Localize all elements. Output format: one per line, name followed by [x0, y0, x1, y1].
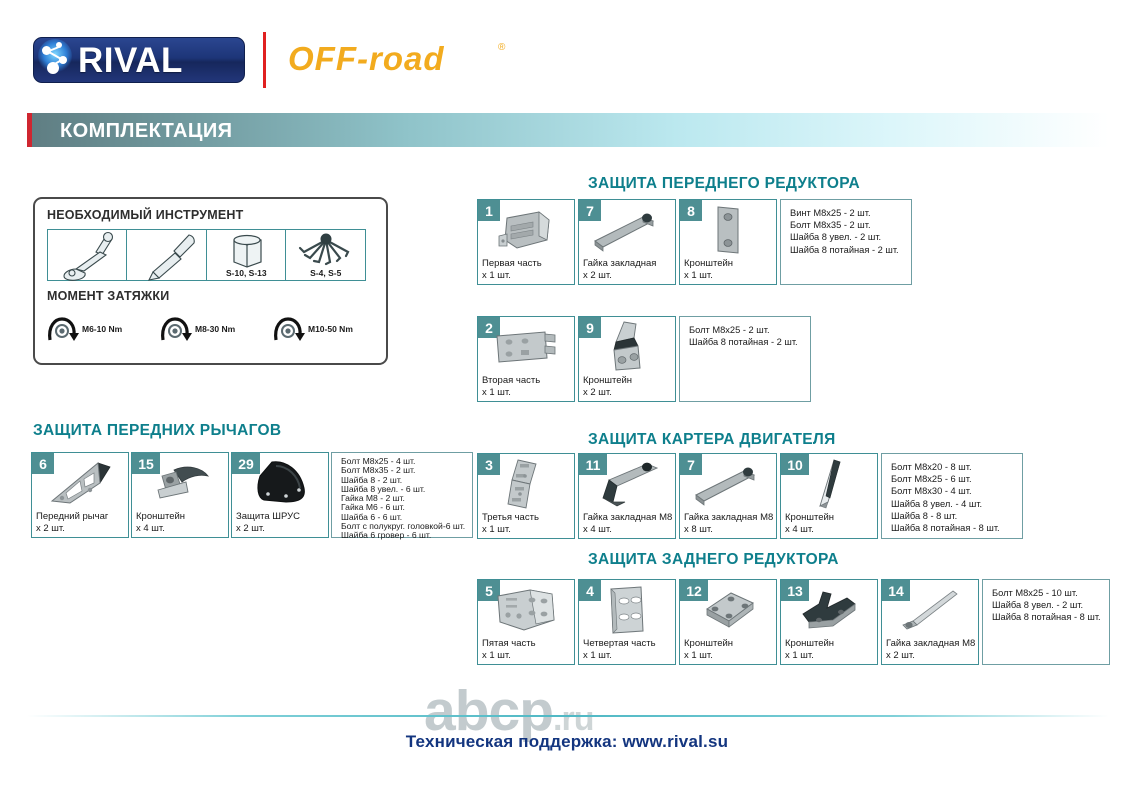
part-art-bracket-plate: [680, 584, 776, 638]
required-tools-panel: НЕОБХОДИМЫЙ ИНСТРУМЕНТ: [33, 197, 388, 365]
torque-title: МОМЕНТ ЗАТЯЖКИ: [47, 289, 169, 303]
support-text: Техническая поддержка: www.rival.su: [0, 732, 1134, 752]
part-name: Гайка закладная: [583, 258, 656, 269]
part-box-1: 1 Первая часть х 1 шт.: [477, 199, 575, 285]
hardware-line: Шайба 8 - 8 шт.: [891, 510, 1022, 522]
part-name: Кронштейн: [583, 375, 632, 386]
part-art-plate-2: [478, 321, 574, 375]
part-qty: х 1 шт.: [684, 270, 713, 281]
hardware-line: Шайба 6 гровер - 6 шт.: [341, 531, 472, 540]
part-caption: Гайка закладная M8 х 4 шт.: [583, 512, 672, 535]
hardware-line: Болт M8x25 - 6 шт.: [891, 473, 1022, 485]
torque-label-m10: M10-50 Nm: [308, 324, 353, 334]
part-caption: Передний рычаг х 2 шт.: [36, 511, 108, 534]
hardware-line: Болт M8x25 - 10 шт.: [992, 587, 1109, 599]
molecule-icon: [34, 37, 78, 83]
part-name: Третья часть: [482, 512, 539, 523]
part-box-15: 15 Кронштейн х 4 шт.: [131, 452, 229, 538]
hardware-line: Шайба 8 потайная - 2 шт.: [689, 336, 810, 348]
part-box-9: 9 Кронштейн х 2 шт.: [578, 316, 676, 402]
part-name: Кронштейн: [136, 511, 185, 522]
part-box-10: 10 Кронштейн х 4 шт.: [780, 453, 878, 539]
hardware-line: Болт M8x25 - 2 шт.: [689, 324, 810, 336]
part-qty: х 1 шт.: [482, 387, 511, 398]
part-caption: Кронштейн х 1 шт.: [785, 638, 834, 661]
title-bar-accent: [27, 113, 32, 147]
tool-cell-hexkeys: S-4, S-5: [285, 229, 366, 281]
hardware-line: Шайба 8 увел. - 2 шт.: [790, 231, 911, 243]
part-caption: Четвертая часть х 1 шт.: [583, 638, 656, 661]
torque-label-m8: M8-30 Nm: [195, 324, 235, 334]
part-qty: х 2 шт.: [236, 523, 265, 534]
torque-item-m6: M6-10 Nm: [45, 316, 158, 342]
part-caption: Гайка закладная M8 х 8 шт.: [684, 512, 773, 535]
part-caption: Кронштейн х 4 шт.: [785, 512, 834, 535]
part-name: Вторая часть: [482, 375, 540, 386]
part-name: Пятая часть: [482, 638, 536, 649]
torque-icon: [158, 316, 192, 342]
part-qty: х 8 шт.: [684, 524, 713, 535]
part-art-plate-3: [478, 458, 574, 512]
part-box-7-engine: 7 Гайка закладная M8 х 8 шт.: [679, 453, 777, 539]
part-qty: х 1 шт.: [785, 650, 814, 661]
part-qty: х 4 шт.: [583, 524, 612, 535]
part-art-bracket-flat: [680, 204, 776, 258]
part-box-11: 11 Гайка закладная M8 х 4 шт.: [578, 453, 676, 539]
part-name: Четвертая часть: [583, 638, 656, 649]
ratchet-wrench-icon: [48, 230, 129, 282]
part-caption: Первая часть х 1 шт.: [482, 258, 542, 281]
part-caption: Гайка закладная х 2 шт.: [583, 258, 656, 281]
screwdriver-icon: [127, 230, 208, 282]
part-name: Кронштейн: [684, 258, 733, 269]
footer-divider: [27, 715, 1109, 717]
part-box-12: 12 Кронштейн х 1 шт.: [679, 579, 777, 665]
part-qty: х 1 шт.: [583, 650, 612, 661]
part-box-2: 2 Вторая часть х 1 шт.: [477, 316, 575, 402]
section-heading-rear-gearbox: ЗАЩИТА ЗАДНЕГО РЕДУКТОРА: [588, 551, 839, 569]
hardware-box-front-arms: Болт M8x25 - 4 шт. Болт M8x35 - 2 шт. Ша…: [331, 452, 473, 538]
part-art-bracket-hook: [132, 457, 228, 511]
part-qty: х 2 шт.: [36, 523, 65, 534]
part-art-plate-1: [478, 204, 574, 258]
section-heading-front-gearbox: ЗАЩИТА ПЕРЕДНЕГО РЕДУКТОРА: [588, 175, 860, 193]
part-box-14: 14 Гайка закладная M8 х 2 шт.: [881, 579, 979, 665]
part-qty: х 2 шт.: [886, 650, 915, 661]
section-heading-front-arms: ЗАЩИТА ПЕРЕДНИХ РЫЧАГОВ: [33, 422, 281, 440]
hardware-line: Болт M8x20 - 8 шт.: [891, 461, 1022, 473]
part-caption: Кронштейн х 4 шт.: [136, 511, 185, 534]
part-name: Защита ШРУС: [236, 511, 300, 522]
part-art-plate-5: [478, 584, 574, 638]
part-qty: х 1 шт.: [482, 524, 511, 535]
part-art-captive-nut-rod: [882, 584, 978, 638]
part-qty: х 4 шт.: [785, 524, 814, 535]
part-box-5: 5 Пятая часть х 1 шт.: [477, 579, 575, 665]
tool-cell-ratchet: [47, 229, 128, 281]
part-caption: Кронштейн х 1 шт.: [684, 638, 733, 661]
part-qty: х 1 шт.: [482, 270, 511, 281]
part-box-3: 3 Третья часть х 1 шт.: [477, 453, 575, 539]
part-box-4: 4 Четвертая часть х 1 шт.: [578, 579, 676, 665]
torque-row: M6-10 Nm M8-30 Nm M10-50 Nm: [45, 316, 385, 342]
part-name: Кронштейн: [684, 638, 733, 649]
part-art-captive-nut: [680, 458, 776, 512]
hardware-box-rear-gearbox: Болт M8x25 - 10 шт. Шайба 8 увел. - 2 шт…: [982, 579, 1110, 665]
part-qty: х 2 шт.: [583, 270, 612, 281]
torque-icon: [271, 316, 305, 342]
tool-cell-screwdriver: [126, 229, 207, 281]
part-box-8: 8 Кронштейн х 1 шт.: [679, 199, 777, 285]
part-art-cv-shield: [232, 457, 328, 511]
hardware-line: Болт M8x30 - 4 шт.: [891, 485, 1022, 497]
logo-divider: [263, 32, 266, 88]
hardware-box-front-gearbox-1: Винт M8x25 - 2 шт. Болт M8x35 - 2 шт. Ша…: [780, 199, 912, 285]
part-caption: Вторая часть х 1 шт.: [482, 375, 540, 398]
part-caption: Кронштейн х 2 шт.: [583, 375, 632, 398]
registered-mark: ®: [498, 42, 505, 53]
offroad-logo-text: OFF-road: [288, 40, 444, 78]
part-name: Кронштейн: [785, 638, 834, 649]
torque-label-m6: M6-10 Nm: [82, 324, 122, 334]
hardware-line: Шайба 8 потайная - 2 шт.: [790, 244, 911, 256]
tools-row: S-10, S-13 S-4, S-5: [47, 229, 365, 281]
hardware-box-front-gearbox-2: Болт M8x25 - 2 шт. Шайба 8 потайная - 2 …: [679, 316, 811, 402]
part-name: Гайка закладная M8: [886, 638, 975, 649]
part-art-captive-nut-bent: [579, 458, 675, 512]
part-name: Гайка закладная M8: [583, 512, 672, 523]
part-name: Передний рычаг: [36, 511, 108, 522]
part-art-plate-4: [579, 584, 675, 638]
part-caption: Защита ШРУС х 2 шт.: [236, 511, 300, 534]
tool-label-socket: S-10, S-13: [207, 268, 286, 278]
tool-cell-socket: S-10, S-13: [206, 229, 287, 281]
part-caption: Третья часть х 1 шт.: [482, 512, 539, 535]
page-header: RIVAL OFF-road ®: [0, 0, 1134, 100]
part-name: Кронштейн: [785, 512, 834, 523]
torque-item-m8: M8-30 Nm: [158, 316, 271, 342]
part-art-captive-nut: [579, 204, 675, 258]
part-caption: Гайка закладная M8 х 2 шт.: [886, 638, 975, 661]
part-caption: Пятая часть х 1 шт.: [482, 638, 536, 661]
hardware-line: Шайба 8 увел. - 4 шт.: [891, 498, 1022, 510]
hardware-line: Винт M8x25 - 2 шт.: [790, 207, 911, 219]
part-art-bracket-angled: [579, 321, 675, 375]
part-art-front-arm: [32, 457, 128, 511]
part-qty: х 4 шт.: [136, 523, 165, 534]
tool-label-hexkeys: S-4, S-5: [286, 268, 365, 278]
hardware-line: Шайба 8 увел. - 2 шт.: [992, 599, 1109, 611]
part-name: Гайка закладная M8: [684, 512, 773, 523]
part-box-29: 29 Защита ШРУС х 2 шт.: [231, 452, 329, 538]
hardware-line: Шайба 8 потайная - 8 шт.: [891, 522, 1022, 534]
part-box-7-front: 7 Гайка закладная х 2 шт.: [578, 199, 676, 285]
section-heading-engine: ЗАЩИТА КАРТЕРА ДВИГАТЕЛЯ: [588, 431, 836, 449]
part-qty: х 2 шт.: [583, 387, 612, 398]
part-box-6: 6 Передний рычаг х 2 шт.: [31, 452, 129, 538]
part-caption: Кронштейн х 1 шт.: [684, 258, 733, 281]
part-qty: х 1 шт.: [684, 650, 713, 661]
page-title: КОМПЛЕКТАЦИЯ: [60, 120, 232, 143]
rival-logo-text: RIVAL: [78, 43, 183, 78]
torque-icon: [45, 316, 79, 342]
part-art-bracket-saddle: [781, 584, 877, 638]
komplektaciya-sheet: RIVAL OFF-road ® КОМПЛЕКТАЦИЯ НЕОБХОДИМЫ…: [0, 0, 1134, 800]
part-qty: х 1 шт.: [482, 650, 511, 661]
required-tools-title: НЕОБХОДИМЫЙ ИНСТРУМЕНТ: [47, 208, 243, 222]
part-name: Первая часть: [482, 258, 542, 269]
hardware-box-engine: Болт M8x20 - 8 шт. Болт M8x25 - 6 шт. Бо…: [881, 453, 1023, 539]
hardware-line: Болт M8x35 - 2 шт.: [790, 219, 911, 231]
part-art-bracket-blade: [781, 458, 877, 512]
part-box-13: 13 Кронштейн х 1 шт.: [780, 579, 878, 665]
rival-logo: RIVAL: [33, 37, 245, 83]
torque-item-m10: M10-50 Nm: [271, 316, 384, 342]
hardware-line: Шайба 8 потайная - 8 шт.: [992, 611, 1109, 623]
